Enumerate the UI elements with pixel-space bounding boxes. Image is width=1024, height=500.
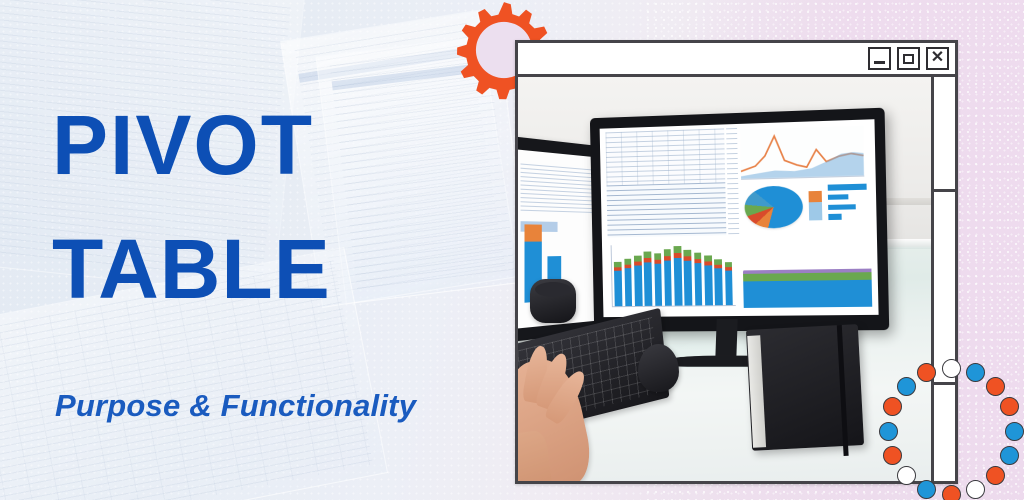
area-chart (743, 260, 873, 308)
column-bar (664, 249, 673, 306)
horizontal-bar-chart (828, 184, 871, 228)
maximize-icon (903, 54, 914, 64)
side-spreadsheet-rows (521, 163, 602, 212)
ring-dot-blue (879, 422, 898, 441)
line-chart (740, 126, 864, 180)
ring-dot-blue (1000, 446, 1019, 465)
pie-chart (744, 186, 803, 230)
ring-dot-orange (883, 397, 902, 416)
close-button[interactable]: ✕ (926, 47, 949, 70)
subtitle: Purpose & Functionality (55, 388, 416, 424)
column-bar (644, 252, 653, 306)
black-notebook (746, 325, 864, 452)
column-bar (725, 263, 733, 306)
desk-photograph (518, 77, 931, 481)
close-icon: ✕ (931, 50, 944, 66)
column-bar (694, 253, 703, 306)
ring-dot-white (942, 359, 961, 378)
banner-canvas: PIVOT TABLE Purpose & Functionality ✕ (0, 0, 1024, 500)
ring-dot-orange (917, 363, 936, 382)
ring-dot-blue (1005, 422, 1024, 441)
ring-dot-orange (883, 446, 902, 465)
notebook-elastic-band (837, 325, 848, 456)
dashboard (600, 119, 879, 317)
mini-bar (808, 191, 823, 220)
column-bar (704, 256, 713, 306)
ring-dot-orange (986, 377, 1005, 396)
headline-line-2: TABLE (52, 228, 331, 310)
ring-dot-white (897, 466, 916, 485)
headline-line-1: PIVOT (52, 104, 331, 186)
maximize-button[interactable] (897, 47, 920, 70)
ring-dot-orange (1000, 397, 1019, 416)
ring-dot-white (966, 480, 985, 499)
hbar (828, 194, 848, 200)
ring-dot-orange (942, 485, 961, 500)
ring-dot-blue (966, 363, 985, 382)
desk-cup (530, 279, 575, 323)
ring-dot-orange (986, 466, 1005, 485)
column-bar (624, 259, 632, 307)
window-titlebar[interactable]: ✕ (518, 43, 955, 77)
hbar (828, 214, 842, 220)
ring-dot-blue (897, 377, 916, 396)
column-bar (684, 250, 693, 306)
main-monitor-screen (600, 119, 879, 317)
ring-dot-blue (917, 480, 936, 499)
page-title: PIVOT TABLE (52, 104, 331, 311)
column-bar (714, 259, 723, 306)
hbar (828, 184, 867, 191)
minimize-button[interactable] (868, 47, 891, 70)
column-chart (611, 243, 736, 308)
scrollbar-thumb[interactable] (934, 192, 955, 382)
spreadsheet-column-strip (727, 128, 740, 236)
main-monitor (590, 108, 890, 332)
dot-ring-decoration (876, 356, 1024, 500)
notebook-pages (747, 336, 766, 448)
minimize-icon (874, 61, 885, 64)
column-bar (674, 246, 683, 306)
hbar (828, 204, 856, 210)
column-bar (614, 263, 622, 307)
spreadsheet-grid-lower (607, 182, 727, 238)
monitor-stand-neck (716, 319, 738, 359)
scrollbar-segment[interactable] (934, 77, 955, 189)
column-bar (654, 254, 662, 307)
column-bar (634, 256, 642, 307)
